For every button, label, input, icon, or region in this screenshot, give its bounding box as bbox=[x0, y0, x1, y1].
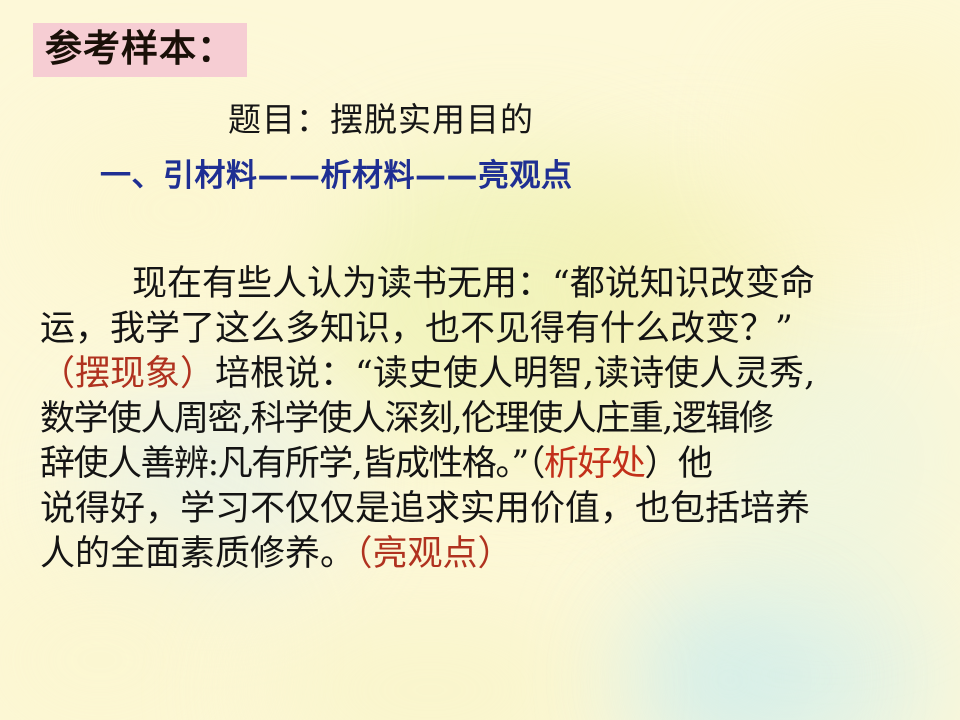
essay-subject-line: 题目：摆脱实用目的 bbox=[228, 100, 534, 140]
slide-canvas: 参考样本： 题目：摆脱实用目的 一、引材料——析材料——亮观点 现在有些人认为读… bbox=[0, 0, 960, 720]
annotation-label: 摆现象 bbox=[75, 354, 180, 394]
body-text-run: 现在有些人认为读书无用：“都说知识改变命 bbox=[132, 264, 815, 304]
essay-body-line: 人的全面素质修养。（亮观点） bbox=[40, 532, 920, 577]
body-text-run: 培根说：“读史使人明智,读诗使人灵秀, bbox=[215, 354, 815, 394]
body-text-run: （ bbox=[40, 354, 75, 394]
body-text-run: ） bbox=[180, 354, 215, 394]
body-text-run: ） bbox=[644, 444, 678, 484]
essay-outline-line: 一、引材料——析材料——亮观点 bbox=[100, 158, 573, 195]
essay-body-line: 现在有些人认为读书无用：“都说知识改变命 bbox=[40, 262, 920, 307]
body-text-run: （ bbox=[528, 444, 544, 484]
body-text-run: 人的全面素质修养。 bbox=[40, 534, 355, 574]
page-title: 参考样本： bbox=[33, 23, 247, 77]
body-text-run: ） bbox=[478, 534, 513, 574]
body-text-run: 说得好，学习不仅仅是追求实用价值，也包括培养 bbox=[40, 489, 810, 529]
annotation-label: 析好处 bbox=[544, 444, 645, 484]
heading-row: 参考样本： bbox=[33, 23, 247, 77]
body-text-run: 数学使人周密,科学使人深刻,伦理使人庄重,逻辑修 bbox=[40, 399, 772, 439]
essay-body-line: 数学使人周密,科学使人深刻,伦理使人庄重,逻辑修 bbox=[40, 397, 920, 442]
body-text-run: （ bbox=[355, 534, 373, 574]
essay-body-line: 辞使人善辨:凡有所学,皆成性格。”（析好处）他 bbox=[40, 442, 920, 487]
essay-body: 现在有些人认为读书无用：“都说知识改变命运，我学了这么多知识，也不见得有什么改变… bbox=[40, 262, 920, 577]
body-text-run: 运，我学了这么多知识，也不见得有什么改变？” bbox=[40, 309, 793, 349]
essay-body-line: （摆现象）培根说：“读史使人明智,读诗使人灵秀, bbox=[40, 352, 920, 397]
essay-body-line: 说得好，学习不仅仅是追求实用价值，也包括培养 bbox=[40, 487, 920, 532]
body-text-run: 他 bbox=[678, 444, 712, 484]
annotation-label: 亮观点 bbox=[373, 534, 478, 574]
essay-body-line: 运，我学了这么多知识，也不见得有什么改变？” bbox=[40, 307, 920, 352]
body-text-run: 辞使人善辨:凡有所学,皆成性格。” bbox=[40, 444, 528, 484]
